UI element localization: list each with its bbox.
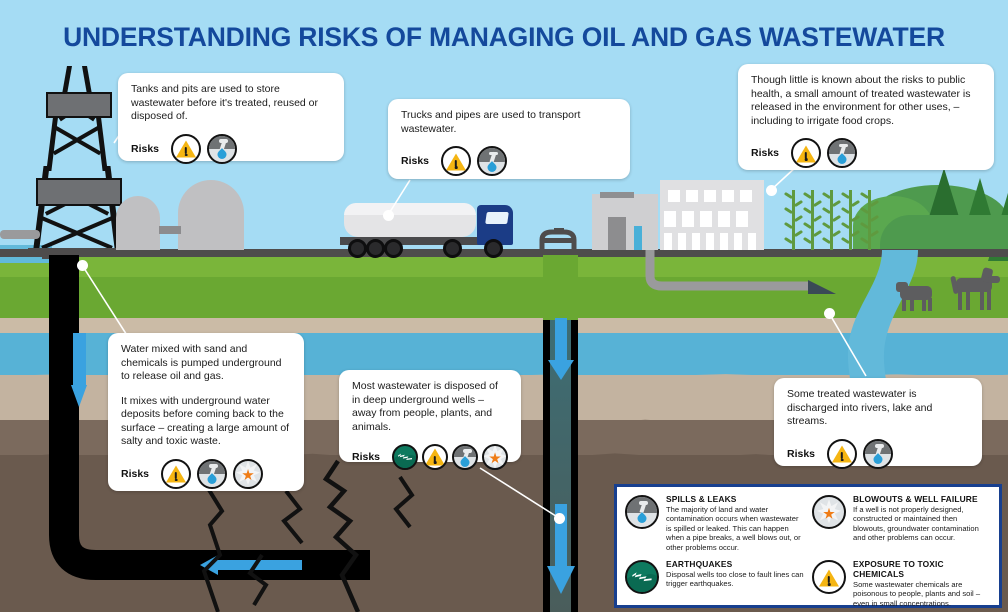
callout-storage-text: Tanks and pits are used to store wastewa…: [131, 83, 331, 124]
risk-row: Risks: [352, 444, 508, 470]
crop-leaf: [794, 229, 803, 236]
callout-fracking: Water mixed with sand and chemicals is p…: [108, 333, 304, 491]
risk-icon-group: [171, 134, 237, 164]
risk-row: Risks: [751, 138, 981, 168]
callout-reuse-text: Though little is known about the risks t…: [751, 74, 981, 128]
food-crops: [788, 188, 880, 250]
legend-body: The majority of land and water contamina…: [666, 505, 804, 552]
crop-leaf: [851, 229, 860, 236]
risk-icon-group: [827, 439, 893, 469]
risk-row: Risks: [131, 134, 331, 164]
page-title: UNDERSTANDING RISKS OF MANAGING OIL AND …: [0, 22, 1008, 53]
blowouts-icon[interactable]: [482, 444, 508, 470]
flow-arrows: [543, 318, 579, 612]
discharge-pipe: [640, 250, 850, 310]
spills-leaks-icon[interactable]: [827, 138, 857, 168]
crop-leaf: [870, 214, 879, 221]
tank-connector-pipe: [159, 226, 181, 234]
callout-discharge: Some treated wastewater is discharged in…: [774, 378, 982, 466]
risks-label: Risks: [751, 147, 779, 159]
risks-label: Risks: [121, 468, 149, 480]
risk-legend: SPILLS & LEAKS The majority of land and …: [614, 484, 1002, 608]
blowouts-icon[interactable]: [812, 495, 846, 529]
spills-leaks-icon[interactable]: [207, 134, 237, 164]
anchor-dot-truck: [383, 210, 394, 221]
crop-leaf: [794, 214, 803, 221]
toxic-chemicals-icon[interactable]: [812, 560, 846, 594]
legend-body: If a well is not properly designed, cons…: [853, 505, 991, 543]
risks-label: Risks: [131, 143, 159, 155]
legend-title: SPILLS & LEAKS: [666, 494, 804, 504]
anchor-dot-discharge: [824, 308, 835, 319]
risk-row: Risks: [787, 439, 969, 469]
spills-leaks-icon[interactable]: [625, 495, 659, 529]
spills-leaks-icon[interactable]: [477, 146, 507, 176]
callout-reuse: Though little is known about the risks t…: [738, 64, 994, 170]
risk-icon-group: [161, 459, 263, 489]
toxic-chemicals-icon[interactable]: [161, 459, 191, 489]
risk-row: Risks: [121, 459, 291, 489]
storage-tank-small: [116, 196, 160, 250]
cow: [896, 280, 942, 312]
risks-label: Risks: [787, 448, 815, 460]
legend-body: Some wastewater chemicals are poisonous …: [853, 580, 991, 608]
legend-title: EARTHQUAKES: [666, 559, 804, 569]
crop-leaf: [851, 214, 860, 221]
crop-leaf: [794, 199, 803, 206]
crop-leaf: [832, 214, 841, 221]
crop-leaf: [813, 199, 822, 206]
legend-item-toxic: EXPOSURE TO TOXIC CHEMICALS Some wastewa…: [812, 559, 991, 608]
crop-leaf: [813, 229, 822, 236]
callout-discharge-text: Some treated wastewater is discharged in…: [787, 388, 969, 429]
spills-leaks-icon[interactable]: [197, 459, 227, 489]
risks-label: Risks: [352, 451, 380, 463]
earthquakes-icon[interactable]: [392, 444, 418, 470]
legend-item-earthquakes: EARTHQUAKES Disposal wells too close to …: [625, 559, 804, 608]
spills-leaks-icon[interactable]: [452, 444, 478, 470]
storage-tank-large: [178, 180, 244, 250]
risk-icon-group: [441, 146, 507, 176]
oil-derrick: [34, 66, 120, 256]
toxic-chemicals-icon[interactable]: [827, 439, 857, 469]
callout-disposal-text: Most wastewater is disposed of in deep u…: [352, 380, 508, 434]
infographic-canvas: UNDERSTANDING RISKS OF MANAGING OIL AND …: [0, 0, 1008, 612]
toxic-chemicals-icon[interactable]: [171, 134, 201, 164]
crop-leaf: [870, 229, 879, 236]
legend-title: BLOWOUTS & WELL FAILURE: [853, 494, 991, 504]
toxic-chemicals-icon[interactable]: [422, 444, 448, 470]
crop-leaf: [813, 214, 822, 221]
toxic-chemicals-icon[interactable]: [441, 146, 471, 176]
anchor-dot-disposalwell: [554, 513, 565, 524]
crop-leaf: [870, 199, 879, 206]
callout-storage: Tanks and pits are used to store wastewa…: [118, 73, 344, 161]
earthquakes-icon[interactable]: [625, 560, 659, 594]
callout-fracking-text-2: It mixes with underground water deposits…: [121, 395, 291, 449]
blowouts-icon[interactable]: [233, 459, 263, 489]
legend-item-blowouts: BLOWOUTS & WELL FAILURE If a well is not…: [812, 494, 991, 552]
risk-row: Risks: [401, 146, 617, 176]
risks-label: Risks: [401, 155, 429, 167]
toxic-chemicals-icon[interactable]: [791, 138, 821, 168]
callout-fracking-text-1: Water mixed with sand and chemicals is p…: [121, 343, 291, 384]
spills-leaks-icon[interactable]: [863, 439, 893, 469]
wellhead-icon: [536, 228, 580, 254]
risk-icon-group: [392, 444, 508, 470]
crop-leaf: [832, 199, 841, 206]
horse: [950, 268, 1002, 312]
legend-item-spills: SPILLS & LEAKS The majority of land and …: [625, 494, 804, 552]
legend-body: Disposal wells too close to fault lines …: [666, 570, 804, 589]
risk-icon-group: [791, 138, 857, 168]
crop-leaf: [851, 199, 860, 206]
callout-transport: Trucks and pipes are used to transport w…: [388, 99, 630, 179]
crop-leaf: [832, 229, 841, 236]
anchor-dot-crops: [766, 185, 777, 196]
callout-transport-text: Trucks and pipes are used to transport w…: [401, 109, 617, 136]
callout-disposal: Most wastewater is disposed of in deep u…: [339, 370, 521, 462]
anchor-dot-frackwell: [77, 260, 88, 271]
legend-title: EXPOSURE TO TOXIC CHEMICALS: [853, 559, 991, 579]
